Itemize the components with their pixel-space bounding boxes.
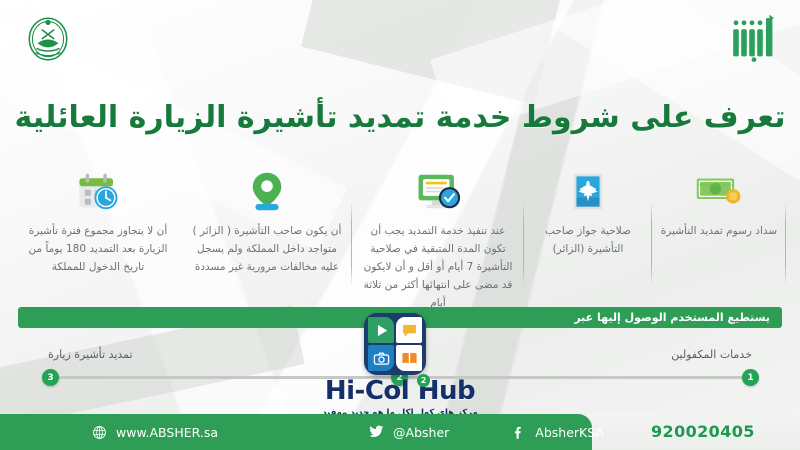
access-path-label: يستطيع المستخدم الوصول إليها عبر [574,311,770,324]
camera-icon [368,345,394,371]
footer: www.ABSHER.sa @Absher AbsherKSA [0,414,592,450]
location-pin-icon [249,168,285,214]
page-title: تعرف على شروط خدمة تمديد تأشيرة الزيارة … [0,98,800,139]
footer-twitter-label: @Absher [393,425,449,440]
condition-card: أن لا يتجاوز مجموع فترة تأشيرة الزيارة ب… [14,168,182,276]
conditions-list: أن لا يتجاوز مجموع فترة تأشيرة الزيارة ب… [14,168,786,296]
condition-text: سداد رسوم تمديد التأشيرة [661,222,777,240]
condition-card: سداد رسوم تمديد التأشيرة [652,168,786,240]
open-book-icon [396,345,422,371]
footer-facebook-label: AbsherKSA [535,425,604,440]
passport-plane-icon [572,168,604,214]
footer-phone[interactable]: 920020405 [651,422,755,441]
header [0,0,800,84]
twitter-icon [368,424,384,440]
step-label-1: خدمات المكفولين [671,348,752,361]
infographic-canvas: تعرف على شروط خدمة تمديد تأشيرة الزيارة … [0,0,800,450]
condition-text: أن يكون صاحب التأشيرة ( الزائر ) متواجد … [188,222,346,276]
footer-facebook[interactable]: AbsherKSA [511,425,604,440]
footer-website-label: www.ABSHER.sa [116,425,218,440]
condition-card: أن يكون صاحب التأشيرة ( الزائر ) متواجد … [182,168,352,276]
condition-card: صلاحية جواز صاحب التأشيرة (الزائر) [524,168,652,258]
money-banknote-icon [695,168,743,214]
absher-logo-icon [730,12,778,64]
moi-emblem-icon [22,12,74,64]
facebook-icon [511,425,526,440]
calendar-clock-icon [75,168,121,214]
play-button-icon [368,317,394,343]
condition-text: عند تنفيذ خدمة التمديد يجب أن تكون المدة… [358,222,518,312]
condition-text: أن لا يتجاوز مجموع فترة تأشيرة الزيارة ب… [20,222,176,276]
step-dot-3[interactable]: 3 [42,369,59,386]
footer-website[interactable]: www.ABSHER.sa [92,425,218,440]
speech-bubble-icon [396,317,422,343]
step-dot-1[interactable]: 1 [742,369,759,386]
monitor-check-icon [415,168,461,214]
step-label-3: تمديد تأشيرة زيارة [48,348,133,361]
condition-card: عند تنفيذ خدمة التمديد يجب أن تكون المدة… [352,168,524,312]
footer-twitter[interactable]: @Absher [368,424,449,440]
condition-text: صلاحية جواز صاحب التأشيرة (الزائر) [530,222,646,258]
globe-icon [92,425,107,440]
absher-app-icon[interactable] [364,313,426,375]
